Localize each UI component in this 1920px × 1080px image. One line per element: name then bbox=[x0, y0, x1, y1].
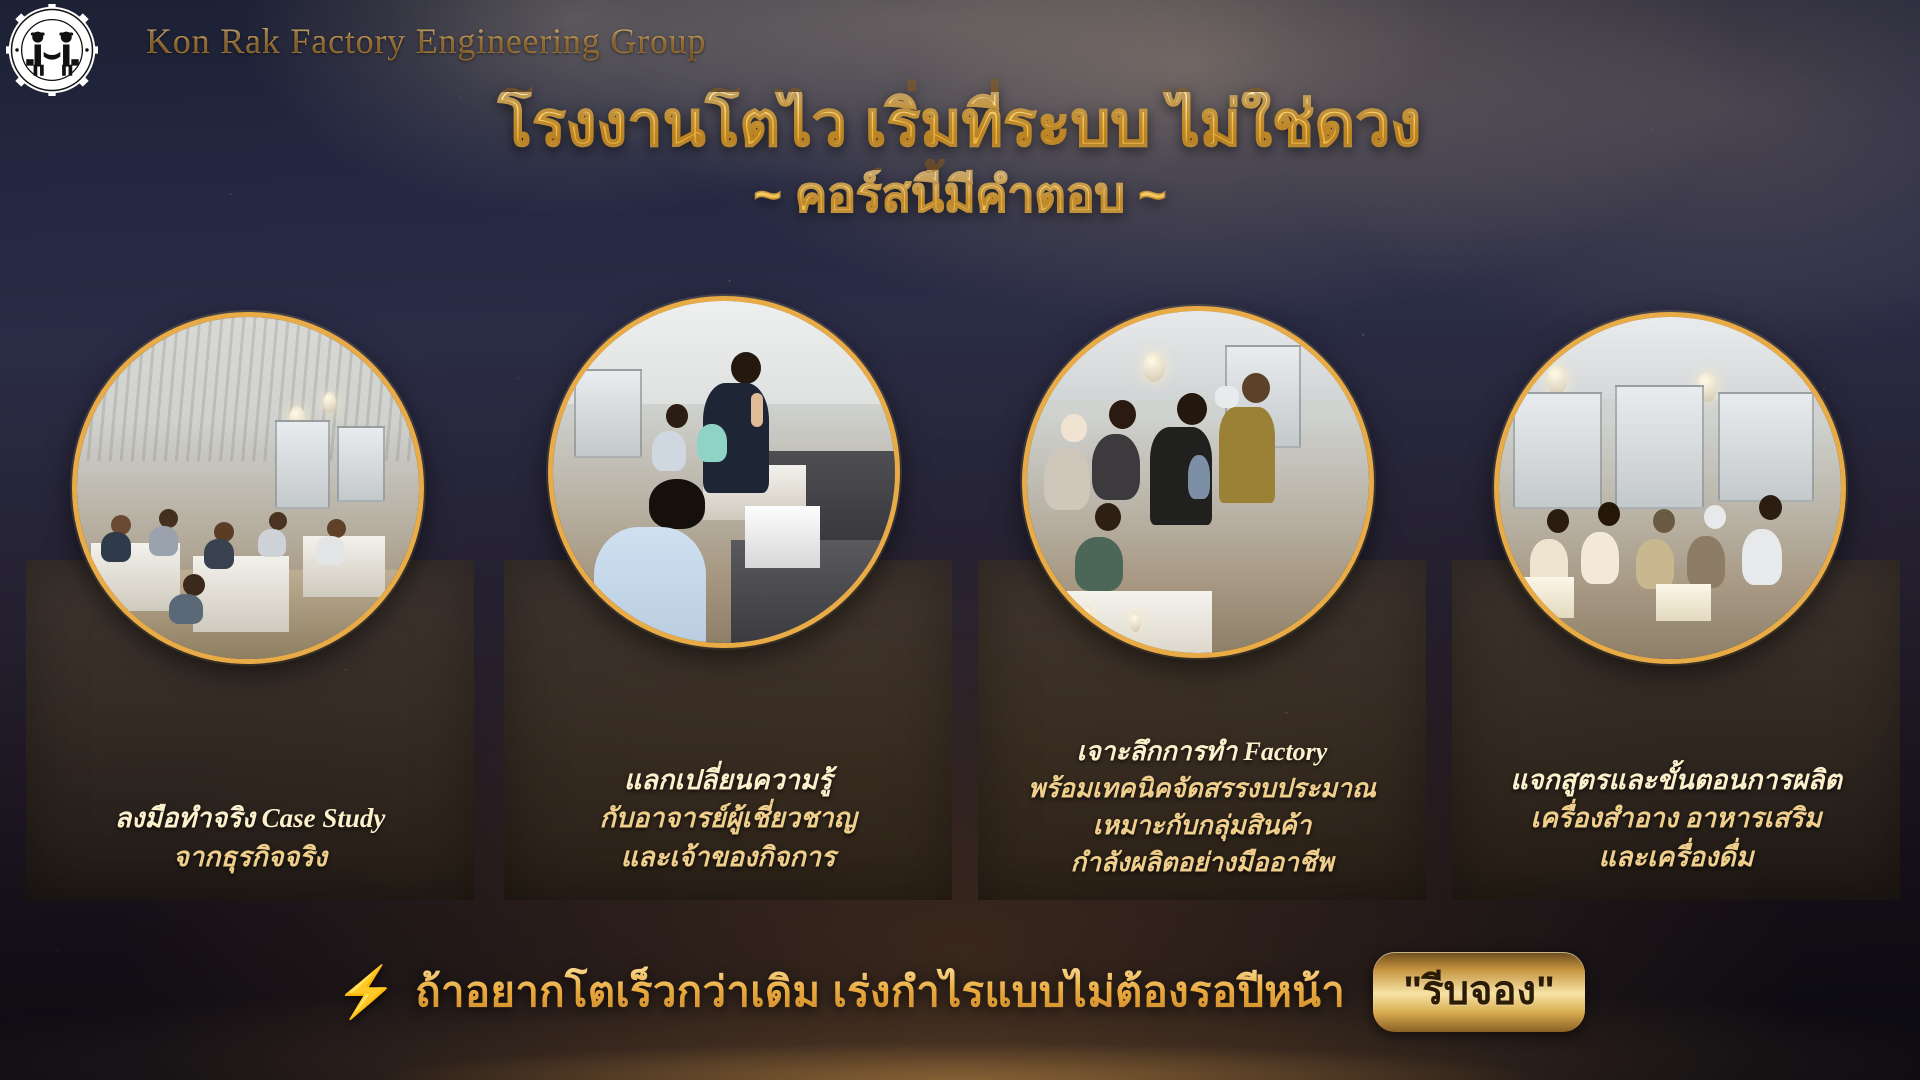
brand-name: Kon Rak Factory Engineering Group bbox=[146, 20, 706, 62]
book-now-button[interactable]: "รีบจอง" bbox=[1373, 952, 1585, 1032]
cta-banner: ⚡ ถ้าอยากโตเร็วกว่าเดิม เร่งกำไรแบบไม่ต้… bbox=[0, 952, 1920, 1032]
caption-line: ลงมือทำจริง Case Study bbox=[40, 799, 460, 837]
photo-case-study bbox=[72, 312, 424, 664]
promo-poster: Kon Rak Factory Engineering Group โรงงาน… bbox=[0, 0, 1920, 1080]
photo-formula-handout bbox=[1494, 312, 1846, 664]
caption-line: เครื่องสำอาง อาหารเสริม bbox=[1466, 799, 1886, 837]
caption-line: พร้อมเทคนิคจัดสรรงบประมาณ bbox=[992, 771, 1412, 808]
card-caption: ลงมือทำจริง Case Study จากธุรกิจจริง bbox=[26, 799, 474, 876]
page-title: โรงงานโตไว เริ่มที่ระบบ ไม่ใช่ดวง bbox=[0, 92, 1920, 158]
book-now-label: "รีบจอง" bbox=[1403, 969, 1555, 1013]
photo-knowledge-exchange bbox=[548, 296, 900, 648]
photo-image bbox=[1027, 311, 1369, 653]
caption-line: เหมาะกับกลุ่มสินค้า bbox=[992, 808, 1412, 845]
cta-banner-text: ถ้าอยากโตเร็วกว่าเดิม เร่งกำไรแบบไม่ต้อง… bbox=[415, 959, 1345, 1025]
photo-image bbox=[77, 317, 419, 659]
caption-line: จากธุรกิจจริง bbox=[40, 838, 460, 876]
caption-line: และเครื่องดื่ม bbox=[1466, 838, 1886, 876]
caption-line: และเจ้าของกิจการ bbox=[518, 838, 938, 876]
photo-image bbox=[553, 301, 895, 643]
card-caption: แลกเปลี่ยนความรู้ กับอาจารย์ผู้เชี่ยวชาญ… bbox=[504, 761, 952, 876]
caption-line: กำลังผลิตอย่างมืออาชีพ bbox=[992, 845, 1412, 882]
caption-line: แจกสูตรและขั้นตอนการผลิต bbox=[1466, 761, 1886, 799]
hero-title-block: โรงงานโตไว เริ่มที่ระบบ ไม่ใช่ดวง ~ คอร์… bbox=[0, 92, 1920, 223]
card-caption: แจกสูตรและขั้นตอนการผลิต เครื่องสำอาง อา… bbox=[1452, 761, 1900, 876]
photo-image bbox=[1499, 317, 1841, 659]
caption-line: แลกเปลี่ยนความรู้ bbox=[518, 761, 938, 799]
caption-line: กับอาจารย์ผู้เชี่ยวชาญ bbox=[518, 799, 938, 837]
company-logo bbox=[6, 4, 98, 96]
caption-line: เจาะลึกการทำ Factory bbox=[992, 734, 1412, 771]
lightning-bolt-icon: ⚡ bbox=[335, 967, 397, 1017]
page-subtitle: ~ คอร์สนี้มีคำตอบ ~ bbox=[0, 170, 1920, 223]
photo-factory-deep-dive bbox=[1022, 306, 1374, 658]
card-caption: เจาะลึกการทำ Factory พร้อมเทคนิคจัดสรรงบ… bbox=[978, 734, 1426, 882]
poster-header: Kon Rak Factory Engineering Group bbox=[0, 0, 1920, 96]
